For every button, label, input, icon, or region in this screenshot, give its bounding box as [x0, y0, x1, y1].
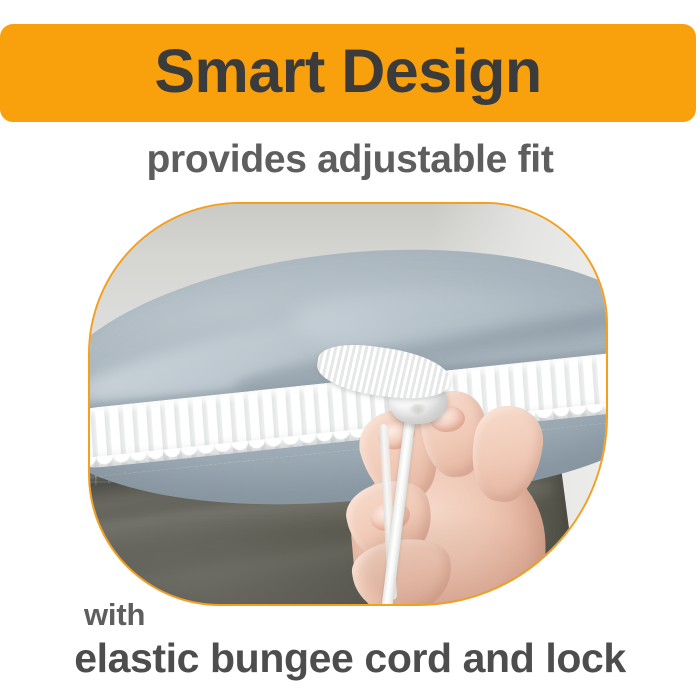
- headline-banner: Smart Design: [0, 24, 696, 122]
- page-title: Smart Design: [154, 41, 541, 106]
- subtitle: provides adjustable fit: [0, 138, 700, 183]
- photo-canvas: [90, 204, 606, 604]
- caption: with elastic bungee cord and lock: [0, 598, 700, 681]
- caption-line-2: elastic bungee cord and lock: [0, 636, 700, 681]
- product-photo: [88, 202, 608, 606]
- cord-lock-hole: [409, 403, 427, 416]
- caption-line-1: with: [0, 598, 700, 632]
- promo-card: Smart Design provides adjustable fit: [0, 0, 700, 700]
